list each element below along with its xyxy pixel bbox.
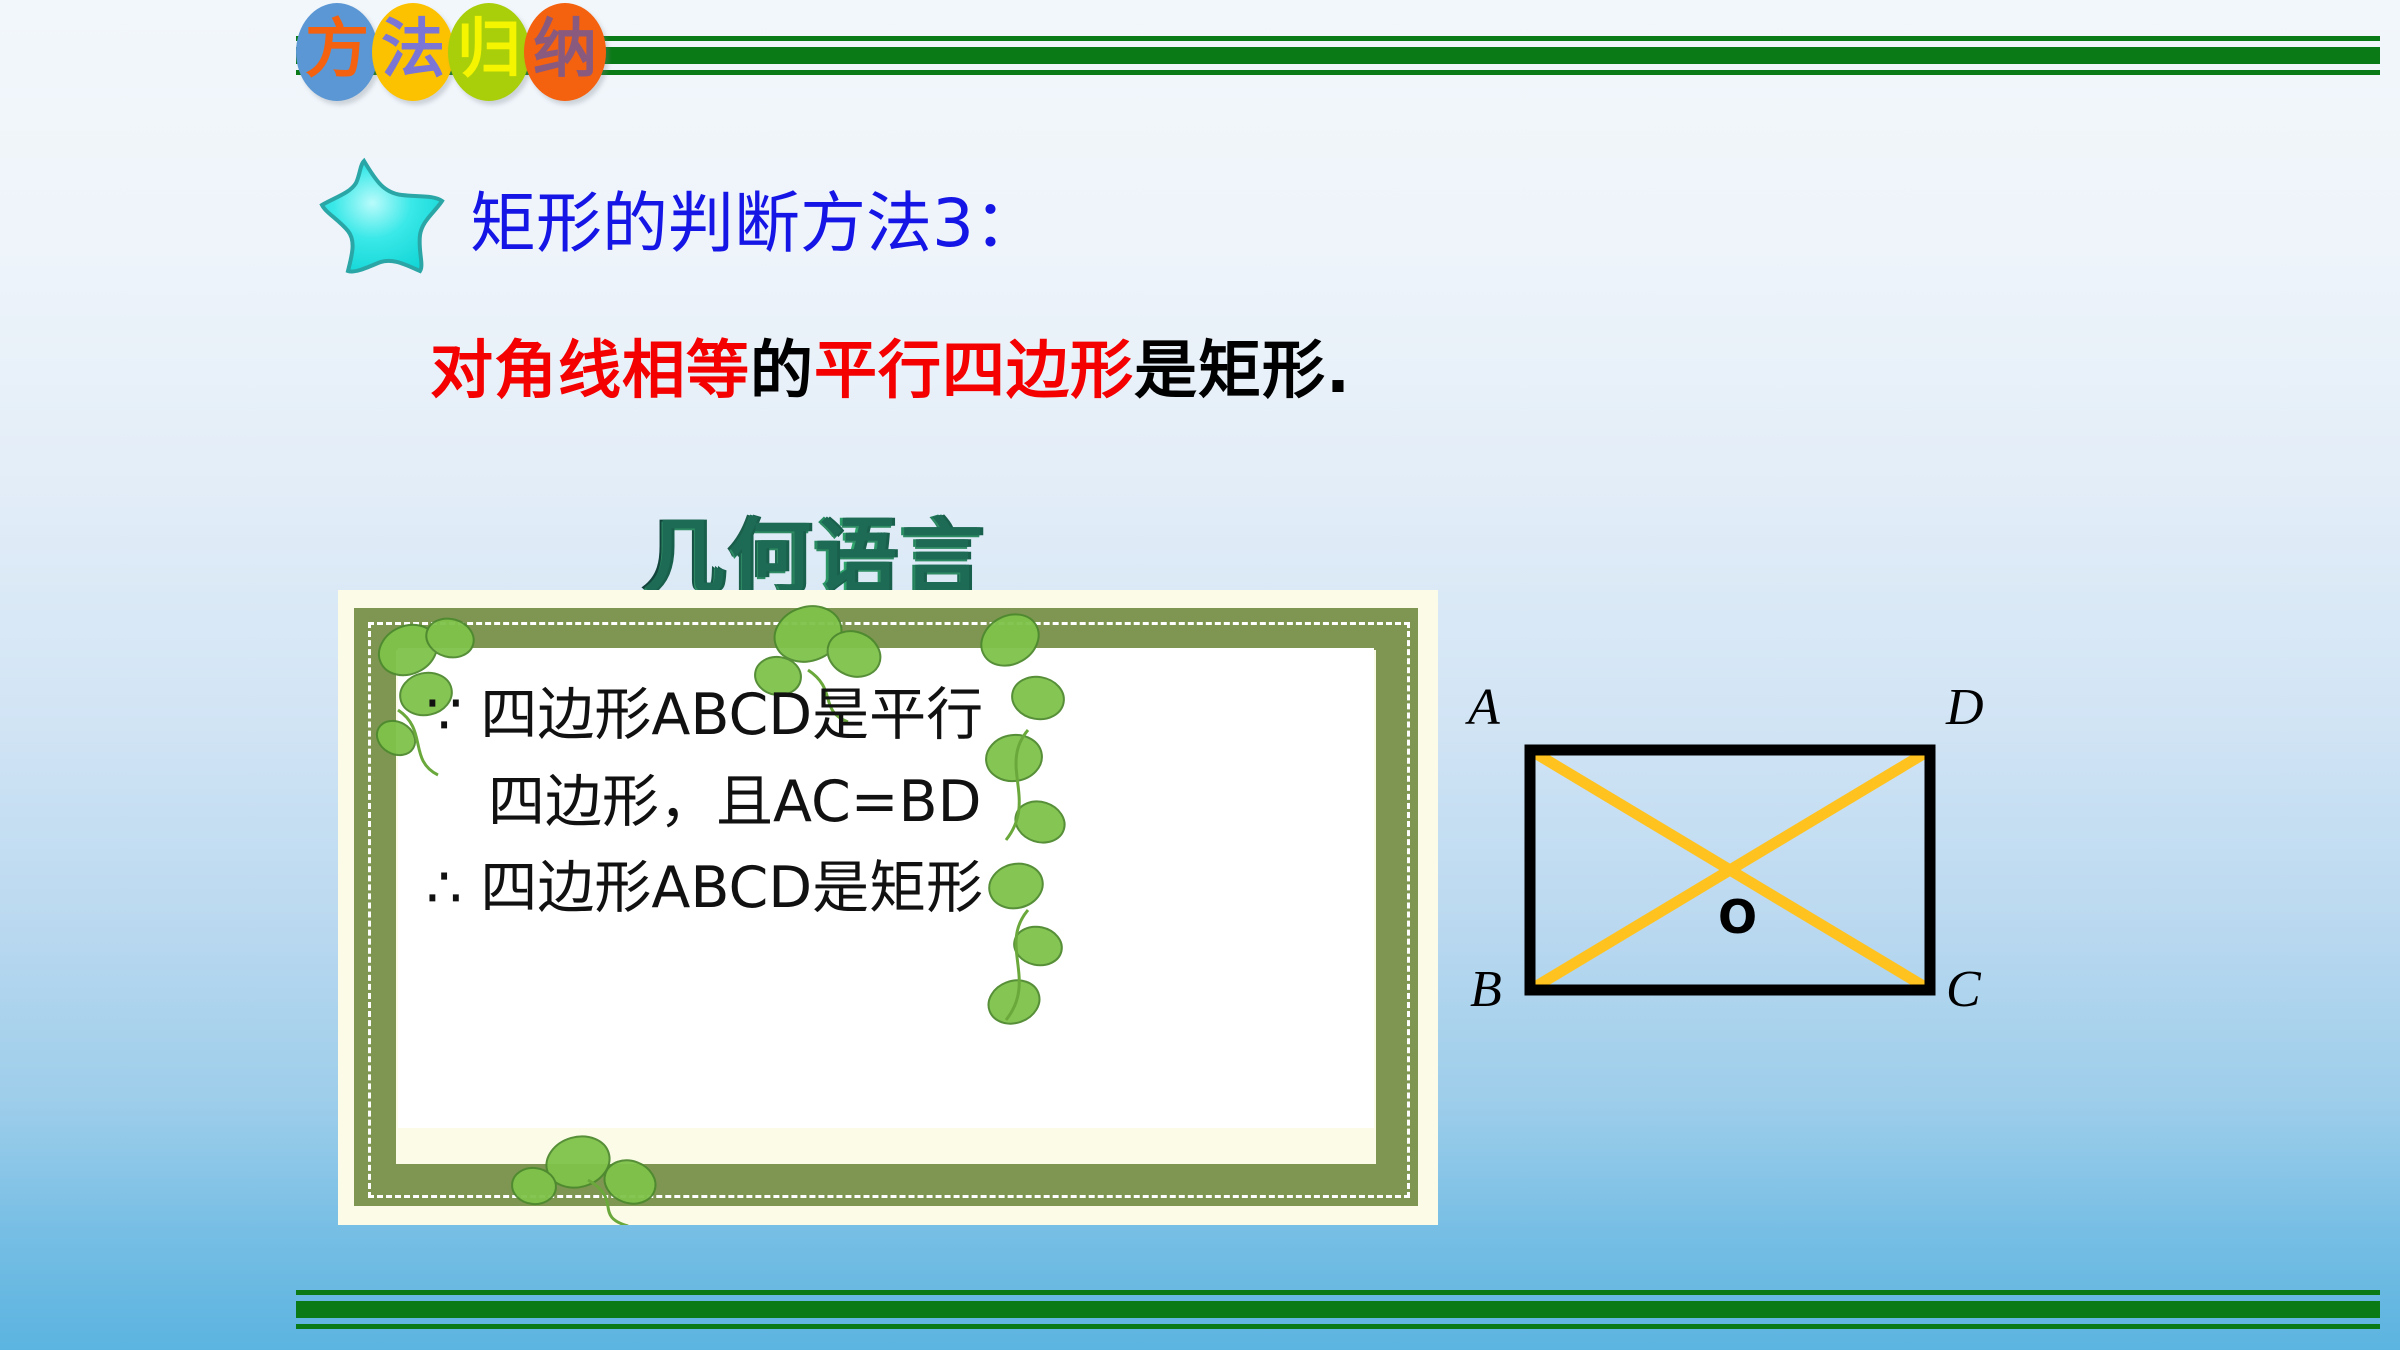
vertex-label-B: B xyxy=(1470,960,1502,1019)
rule-line-top xyxy=(296,36,2380,41)
badge-na-char: 纳 xyxy=(533,18,597,82)
badge-fang-char: 方 xyxy=(305,18,369,82)
geometry-line-2: 四边形，且AC=BD xyxy=(426,759,1366,846)
page-title: 矩形的判断方法3： xyxy=(470,170,1040,266)
star-icon xyxy=(318,155,448,275)
rule-line-bottom-bottom xyxy=(296,1324,2380,1329)
theorem-statement: 对角线相等的平行四边形是矩形. xyxy=(430,320,1351,411)
rule-line-bottom xyxy=(296,70,2380,75)
badge-fa: 法 xyxy=(372,3,454,101)
vertex-label-A: A xyxy=(1468,678,1500,737)
section-title-badges: 方 法 归 纳 xyxy=(296,3,600,101)
method-heading-text: 矩形的判断方法3： xyxy=(470,185,1040,262)
statement-part-diagonals-equal: 对角线相等 xyxy=(430,334,750,407)
badge-gui: 归 xyxy=(448,3,530,101)
rule-line-bottom-middle xyxy=(296,1301,2380,1318)
rule-line-bottom-top xyxy=(296,1290,2380,1295)
rule-line-middle xyxy=(296,47,2380,64)
rectangle-diagram: A D B C O xyxy=(1450,690,2010,1050)
geometry-language-text: ∵ 四边形ABCD是平行 四边形，且AC=BD ∴ 四边形ABCD是矩形 xyxy=(426,672,1366,932)
bottom-rule-band xyxy=(0,1280,2400,1350)
vertex-label-C: C xyxy=(1946,960,1981,1019)
geometry-line-1: ∵ 四边形ABCD是平行 xyxy=(426,672,1366,759)
badge-fang: 方 xyxy=(296,3,378,101)
center-label-O: O xyxy=(1718,890,1757,944)
vertex-label-D: D xyxy=(1946,678,1984,737)
geometry-line-3: ∴ 四边形ABCD是矩形 xyxy=(426,845,1366,932)
badge-fa-char: 法 xyxy=(381,18,445,82)
statement-part-is-rectangle: 是矩形. xyxy=(1134,334,1351,407)
badge-gui-char: 归 xyxy=(457,18,521,82)
statement-part-parallelogram: 平行四边形 xyxy=(814,334,1134,407)
statement-part-de: 的 xyxy=(750,334,814,407)
geometry-language-box: ∵ 四边形ABCD是平行 四边形，且AC=BD ∴ 四边形ABCD是矩形 xyxy=(338,590,1438,1225)
badge-na: 纳 xyxy=(524,3,606,101)
